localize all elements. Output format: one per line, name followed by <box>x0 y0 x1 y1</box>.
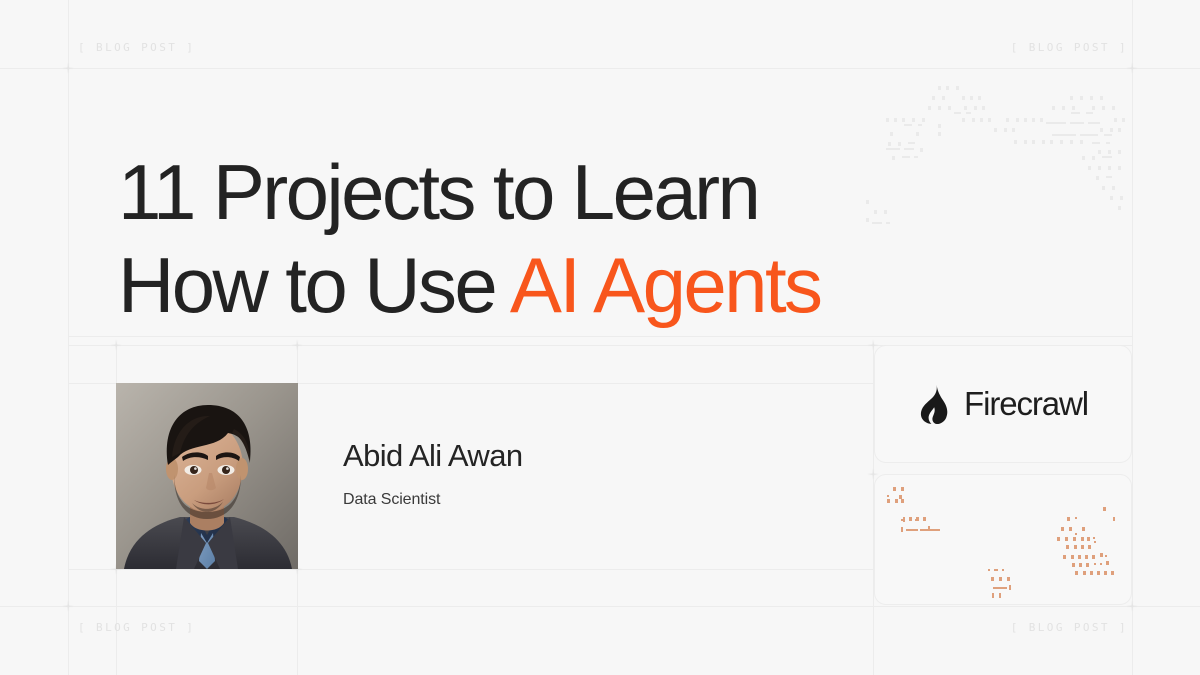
page-title: 11 Projects to LearnHow to Use AI Agents <box>118 146 1018 332</box>
brand-logo-card: Firecrawl <box>874 345 1132 463</box>
grid-line-horizontal-mid-upper <box>68 336 1132 337</box>
page-title-accent: AI Agents <box>510 241 821 329</box>
brand-name: Firecrawl <box>964 385 1088 423</box>
decorative-dot-pattern-bottom <box>875 475 1132 605</box>
sparkle-icon <box>60 60 76 76</box>
decorative-pattern-card <box>874 474 1132 605</box>
corner-label-top-right: [ BLOG POST ] <box>1011 41 1128 54</box>
avatar <box>116 383 298 569</box>
grid-line-horizontal-bottom <box>0 606 1200 607</box>
page-title-line-2-lead: How to Use <box>118 241 510 329</box>
author-name: Abid Ali Awan <box>343 438 523 474</box>
grid-line-horizontal-top <box>0 68 1200 69</box>
sparkle-icon <box>1124 60 1140 76</box>
corner-label-bottom-right: [ BLOG POST ] <box>1011 621 1128 634</box>
corner-label-bottom-left: [ BLOG POST ] <box>78 621 195 634</box>
corner-label-top-left: [ BLOG POST ] <box>78 41 195 54</box>
grid-line-vertical-right <box>1132 0 1133 675</box>
sparkle-icon <box>60 598 76 614</box>
sparkle-icon <box>289 337 305 353</box>
sparkle-icon <box>108 337 124 353</box>
flame-icon <box>918 384 950 424</box>
grid-line-vertical-left <box>68 0 69 675</box>
author-role: Data Scientist <box>343 491 440 509</box>
blog-post-cover: [ BLOG POST ] [ BLOG POST ] [ BLOG POST … <box>0 0 1200 675</box>
page-title-line-1: 11 Projects to Learn <box>118 148 758 236</box>
